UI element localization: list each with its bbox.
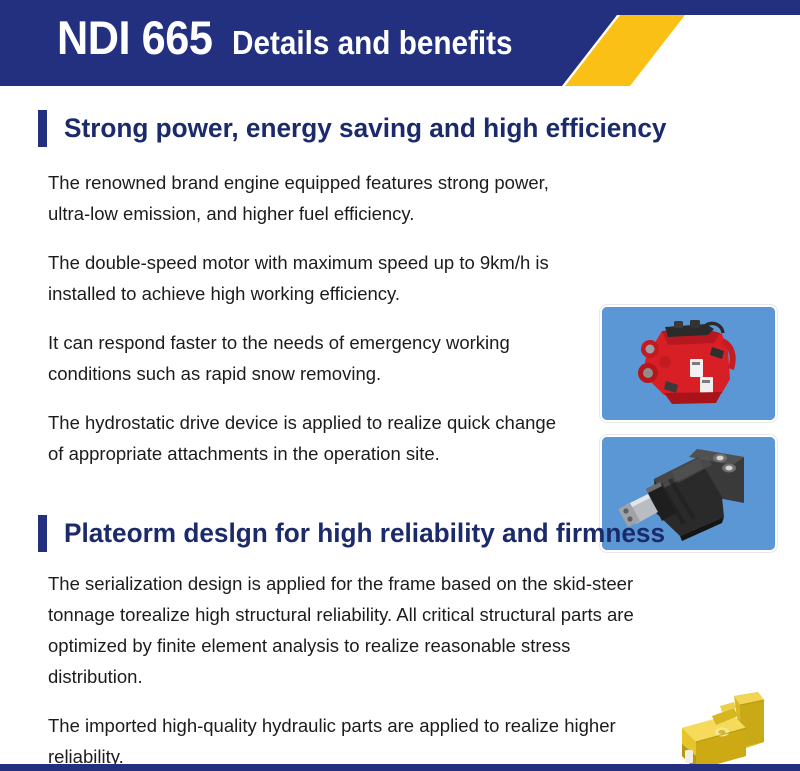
bottom-rule [0, 764, 800, 771]
paragraph: The serialization design is applied for … [0, 568, 662, 692]
section-2-title: Plateorm deslgn for high reliability and… [64, 518, 665, 549]
banner-title-group: NDI 665 Details and benefits [57, 14, 544, 76]
section-heading-strong-power: Strong power, energy saving and high eff… [0, 110, 800, 147]
paragraph: The renowned brand engine equipped featu… [0, 167, 565, 229]
heading-accent-bar [38, 515, 47, 552]
section-1-body: The renowned brand engine equipped featu… [0, 167, 565, 469]
paragraph: It can respond faster to the needs of em… [0, 327, 565, 389]
heading-accent-bar [38, 110, 47, 147]
banner-subtitle: Details and benefits [232, 26, 513, 59]
yellow-bracket-render [672, 688, 792, 771]
paragraph: The hydrostatic drive device is applied … [0, 407, 565, 469]
paragraph: The double-speed motor with maximum spee… [0, 247, 565, 309]
paragraph: The imported high-quality hydraulic part… [0, 710, 680, 771]
product-model-title: NDI 665 [57, 14, 212, 61]
diesel-engine-illustration [602, 307, 775, 420]
section-2-body: The serialization design is applied for … [0, 568, 662, 771]
section-1-title: Strong power, energy saving and high eff… [64, 113, 667, 144]
page-banner: NDI 665 Details and benefits [0, 0, 800, 86]
page-content: Strong power, energy saving and high eff… [0, 110, 800, 771]
diesel-engine-photo [600, 305, 777, 422]
product-detail-page: NDI 665 Details and benefits Strong powe… [0, 0, 800, 771]
